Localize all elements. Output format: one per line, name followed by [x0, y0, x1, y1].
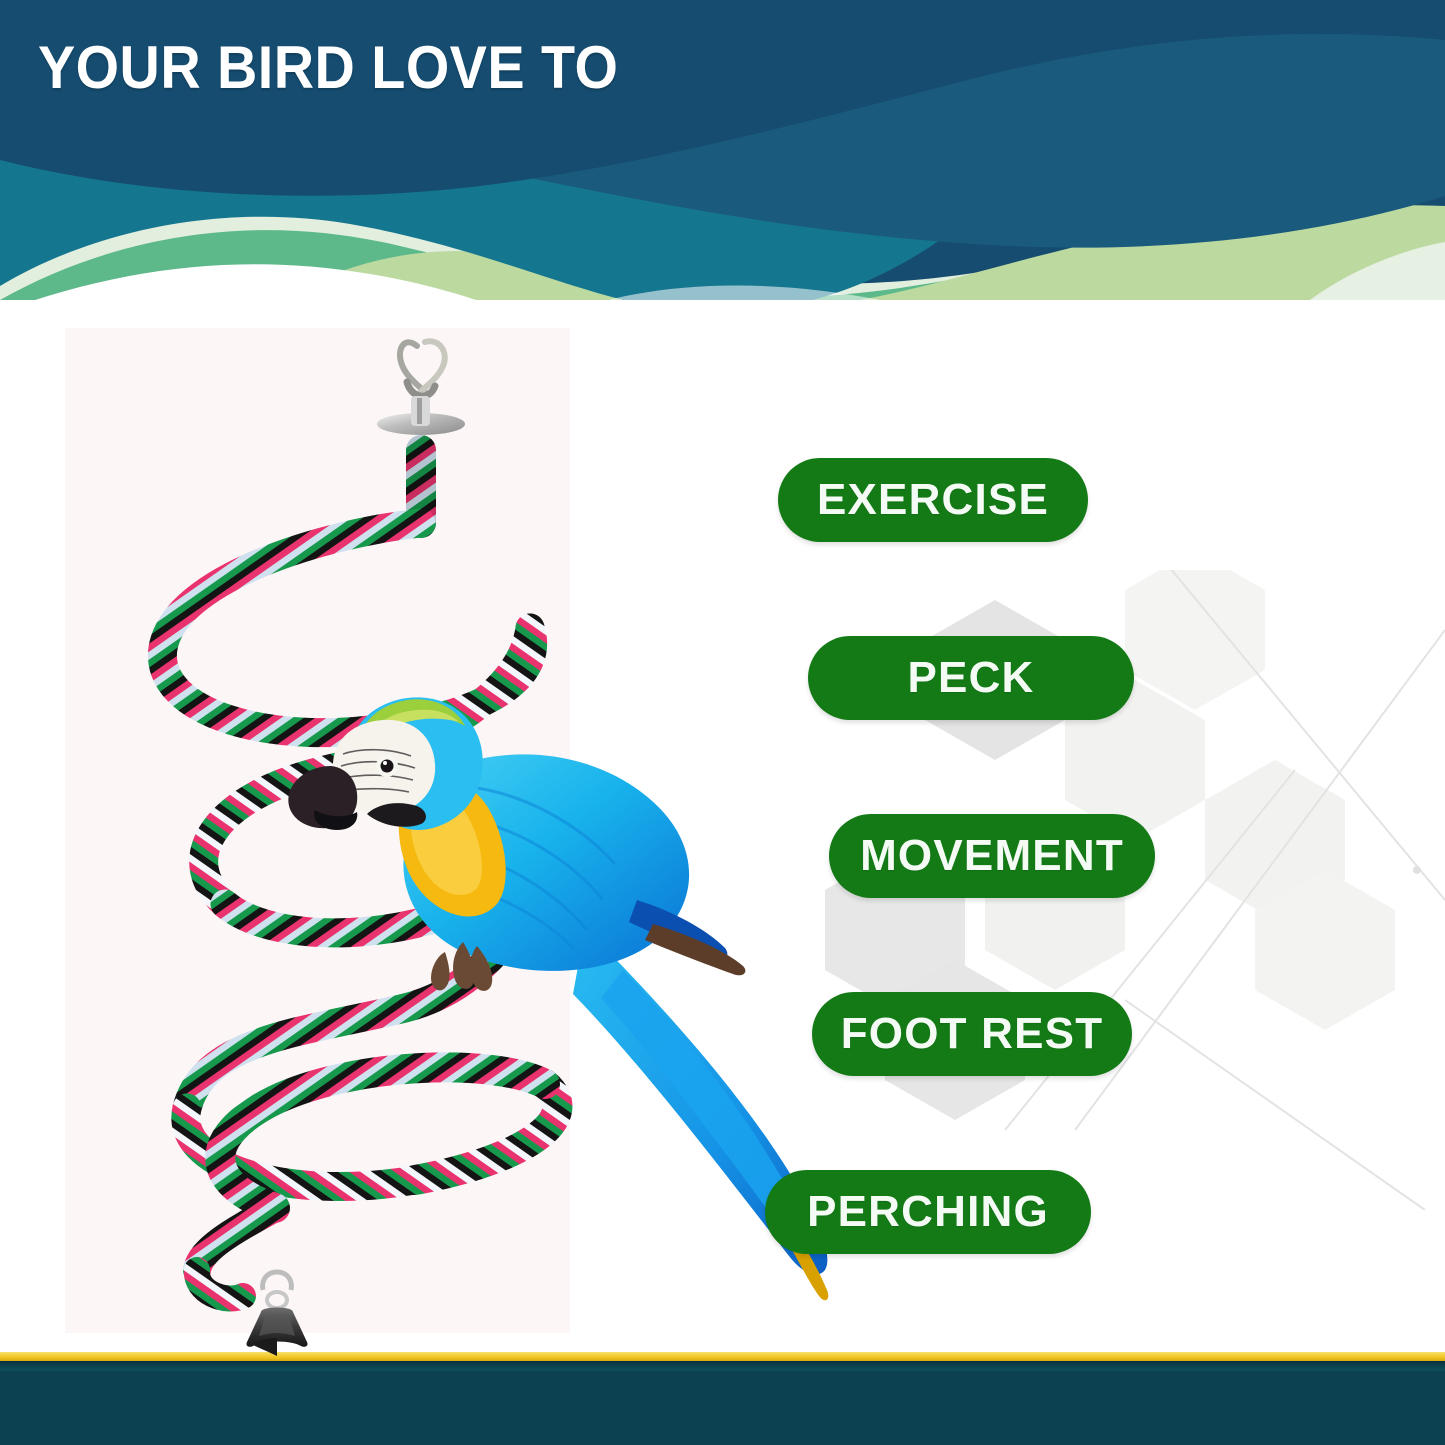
- benefit-pill-label: PERCHING: [807, 1187, 1049, 1237]
- footer-bar: [0, 1352, 1445, 1445]
- content-area: EXERCISE PECK MOVEMENT FOOT REST PERCHIN…: [0, 300, 1445, 1355]
- benefit-pill-exercise[interactable]: EXERCISE: [778, 458, 1088, 542]
- benefit-pill-foot-rest[interactable]: FOOT REST: [812, 992, 1132, 1076]
- benefit-pill-list: EXERCISE PECK MOVEMENT FOOT REST PERCHIN…: [0, 300, 1445, 1355]
- benefit-pill-peck[interactable]: PECK: [808, 636, 1134, 720]
- header-banner: YOUR BIRD LOVE TO: [0, 0, 1445, 316]
- benefit-pill-label: EXERCISE: [817, 475, 1049, 525]
- benefit-pill-label: FOOT REST: [841, 1009, 1104, 1059]
- benefit-pill-movement[interactable]: MOVEMENT: [829, 814, 1155, 898]
- promo-infographic-page: YOUR BIRD LOVE TO: [0, 0, 1445, 1445]
- footer-background: [0, 1361, 1445, 1445]
- page-title: YOUR BIRD LOVE TO: [38, 38, 618, 98]
- footer-sheen: [0, 1361, 1445, 1371]
- benefit-pill-perching[interactable]: PERCHING: [765, 1170, 1091, 1254]
- benefit-pill-label: PECK: [907, 653, 1034, 703]
- benefit-pill-label: MOVEMENT: [860, 831, 1124, 881]
